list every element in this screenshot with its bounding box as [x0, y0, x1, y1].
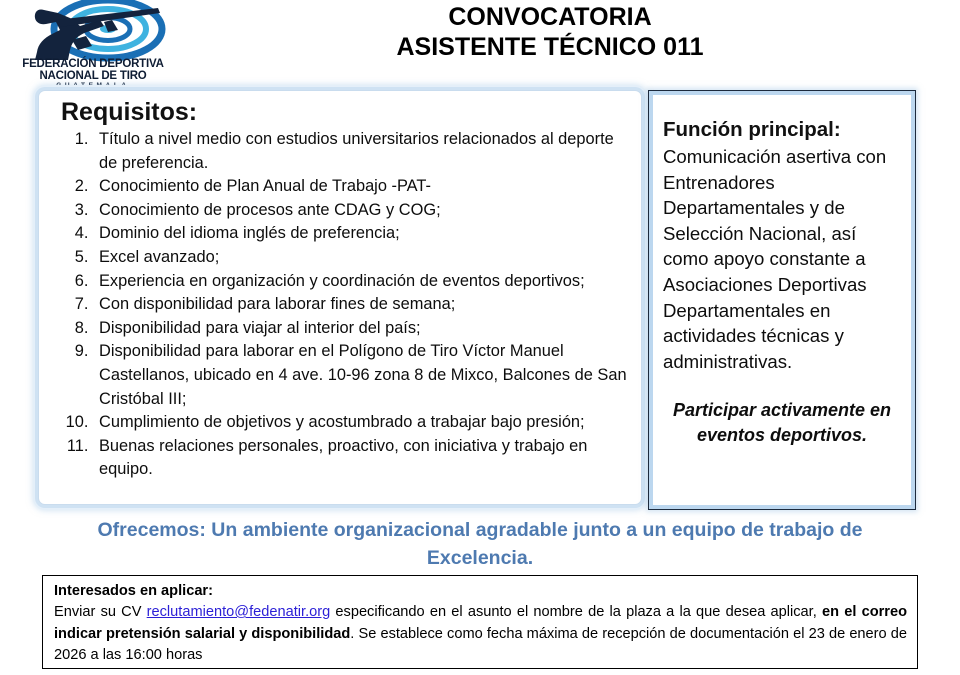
list-item: Disponibilidad para viajar al interior d…	[93, 317, 627, 341]
contacto-text-after-email: especificando en el asunto el nombre de …	[330, 604, 822, 620]
requisitos-list: Título a nivel medio con estudios univer…	[49, 128, 631, 482]
list-item: Conocimiento de procesos ante CDAG y COG…	[93, 199, 627, 223]
page-title: CONVOCATORIA ASISTENTE TÉCNICO 011	[200, 2, 900, 62]
logo-text-line-2: NACIONAL DE TIRO	[8, 70, 178, 82]
contacto-body-text: Enviar su CV reclutamiento@fedenatir.org…	[54, 602, 907, 667]
federation-logo: FEDERACIÓN DEPORTIVA NACIONAL DE TIRO GU…	[8, 0, 178, 92]
contacto-heading: Interesados en aplicar:	[54, 581, 907, 601]
funcion-highlight-text: Participar activamente en eventos deport…	[667, 398, 897, 448]
requisitos-heading: Requisitos:	[61, 97, 631, 127]
contacto-email-link[interactable]: reclutamiento@fedenatir.org	[147, 604, 331, 620]
page-title-line-2: ASISTENTE TÉCNICO 011	[200, 32, 900, 62]
requisitos-panel: Requisitos: Título a nivel medio con est…	[38, 90, 642, 505]
list-item: Experiencia en organización y coordinaci…	[93, 270, 627, 294]
funcion-body-text: Comunicación asertiva con Entrenadores D…	[663, 144, 901, 374]
contacto-panel: Interesados en aplicar: Enviar su CV rec…	[42, 575, 918, 669]
logo-text-country: GUATEMALA	[8, 82, 178, 89]
list-item: Cumplimiento de objetivos y acostumbrado…	[93, 411, 627, 435]
list-item: Conocimiento de Plan Anual de Trabajo -P…	[93, 175, 627, 199]
list-item: Dominio del idioma inglés de preferencia…	[93, 222, 627, 246]
contacto-text-before-email: Enviar su CV	[54, 604, 147, 620]
list-item: Disponibilidad para laborar en el Polígo…	[93, 340, 627, 411]
logo-text-line-1: FEDERACIÓN DEPORTIVA	[8, 58, 178, 70]
funcion-principal-panel: Función principal: Comunicación asertiva…	[648, 90, 916, 510]
shooter-target-logo-icon	[8, 0, 178, 62]
list-item: Título a nivel medio con estudios univer…	[93, 128, 627, 175]
list-item: Excel avanzado;	[93, 246, 627, 270]
list-item: Con disponibilidad para laborar fines de…	[93, 293, 627, 317]
funcion-heading: Función principal:	[663, 117, 901, 143]
page-title-line-1: CONVOCATORIA	[200, 2, 900, 32]
ofrecemos-banner: Ofrecemos: Un ambiente organizacional ag…	[60, 516, 900, 572]
list-item: Buenas relaciones personales, proactivo,…	[93, 435, 627, 482]
